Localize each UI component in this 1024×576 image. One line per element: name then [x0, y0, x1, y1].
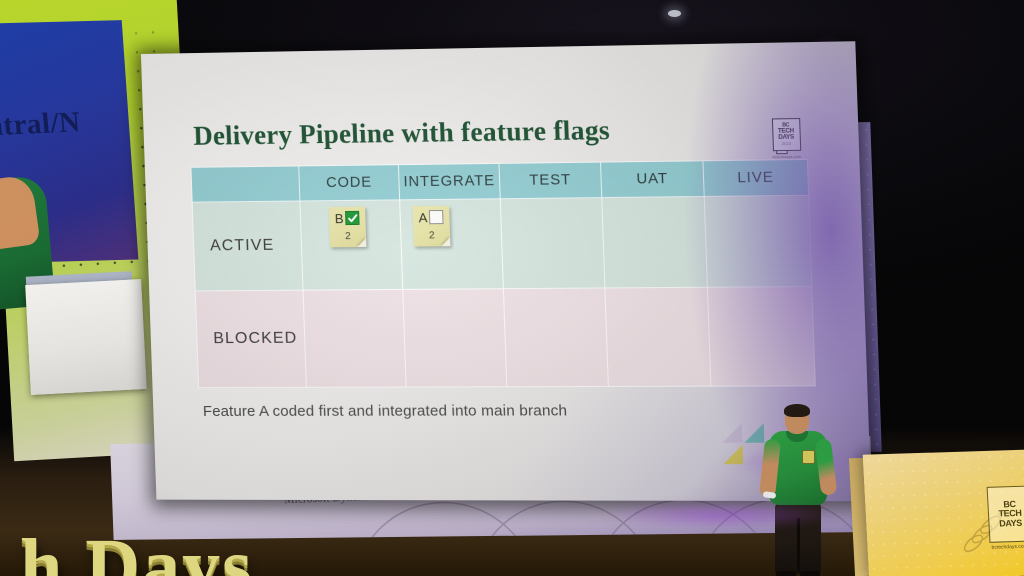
cell-blocked-code[interactable]	[303, 289, 406, 387]
pipeline-header-integrate: INTEGRATE	[398, 163, 500, 199]
stage-3d-letters: h Days	[20, 523, 254, 576]
podium-panel: BC TECH DAYS bctechdays.com	[863, 449, 1024, 576]
sticky-note-count: 2	[345, 231, 351, 242]
photo-scene: ntral/N bctechdays.com When You Are Pass…	[0, 0, 1024, 576]
sticky-note-a[interactable]: A 2	[413, 206, 451, 247]
pipeline-row-active: ACTIVE B	[192, 195, 812, 291]
ceiling-spotlight-icon	[668, 10, 681, 17]
speaker-badge	[802, 450, 815, 464]
slide-title: Delivery Pipeline with feature flags	[193, 115, 611, 152]
speaker-hair	[784, 404, 810, 417]
pipeline-header-corner	[191, 166, 300, 202]
cell-active-test[interactable]	[500, 198, 605, 289]
slide-caption: Feature A coded first and integrated int…	[203, 402, 568, 420]
podium-url: bctechdays.com	[991, 544, 1024, 551]
cell-blocked-test[interactable]	[503, 288, 608, 387]
sticky-note-letter: A	[418, 211, 427, 224]
checkbox-checked-icon[interactable]	[345, 211, 360, 225]
speaker-shoe	[800, 571, 820, 576]
pipeline-header-test: TEST	[499, 162, 602, 199]
row-label-active: ACTIVE	[192, 201, 303, 291]
pipeline-header-uat: UAT	[601, 161, 705, 198]
speaker-wristband	[763, 491, 777, 499]
cell-blocked-integrate[interactable]	[403, 289, 507, 387]
logo-box: BC TECH DAYS 2023	[771, 118, 800, 151]
cell-active-code[interactable]: B 2	[300, 200, 403, 290]
left-screen-text: ntral/N	[0, 106, 82, 143]
speaker-person	[762, 406, 834, 576]
logo-year: 2023	[782, 141, 791, 145]
cell-blocked-live[interactable]	[707, 286, 815, 386]
speaker-shoe	[776, 571, 796, 576]
slide-content: Delivery Pipeline with feature flags BC …	[177, 69, 832, 471]
sticky-note-letter: B	[335, 212, 344, 225]
stage-floor-glow	[560, 500, 880, 530]
pipeline-header-live: LIVE	[703, 159, 809, 196]
podium-logo-icon: BC TECH DAYS	[987, 486, 1024, 543]
sticky-note-b[interactable]: B 2	[329, 207, 367, 248]
sticky-note-count: 2	[429, 230, 435, 241]
bctechdays-logo-icon: BC TECH DAYS 2023 bctechdays.com	[770, 118, 803, 159]
logo-tail	[776, 151, 788, 154]
podium-logo-line-3: DAYS	[999, 519, 1022, 529]
pipeline-table: CODE INTEGRATE TEST UAT LIVE ACTIVE	[190, 159, 815, 388]
cell-blocked-uat[interactable]	[605, 287, 711, 386]
cell-active-live[interactable]	[704, 195, 812, 287]
sticky-note-fold-top	[357, 238, 366, 247]
pipeline-header-code: CODE	[299, 165, 400, 201]
left-table-surface	[25, 279, 147, 395]
pipeline-row-blocked: BLOCKED	[195, 286, 815, 387]
sticky-note-fold-top	[441, 237, 450, 246]
cell-active-uat[interactable]	[602, 196, 708, 287]
row-label-blocked: BLOCKED	[195, 290, 306, 387]
cell-active-integrate[interactable]: A 2	[400, 199, 504, 290]
checkbox-unchecked-icon[interactable]	[429, 210, 444, 224]
